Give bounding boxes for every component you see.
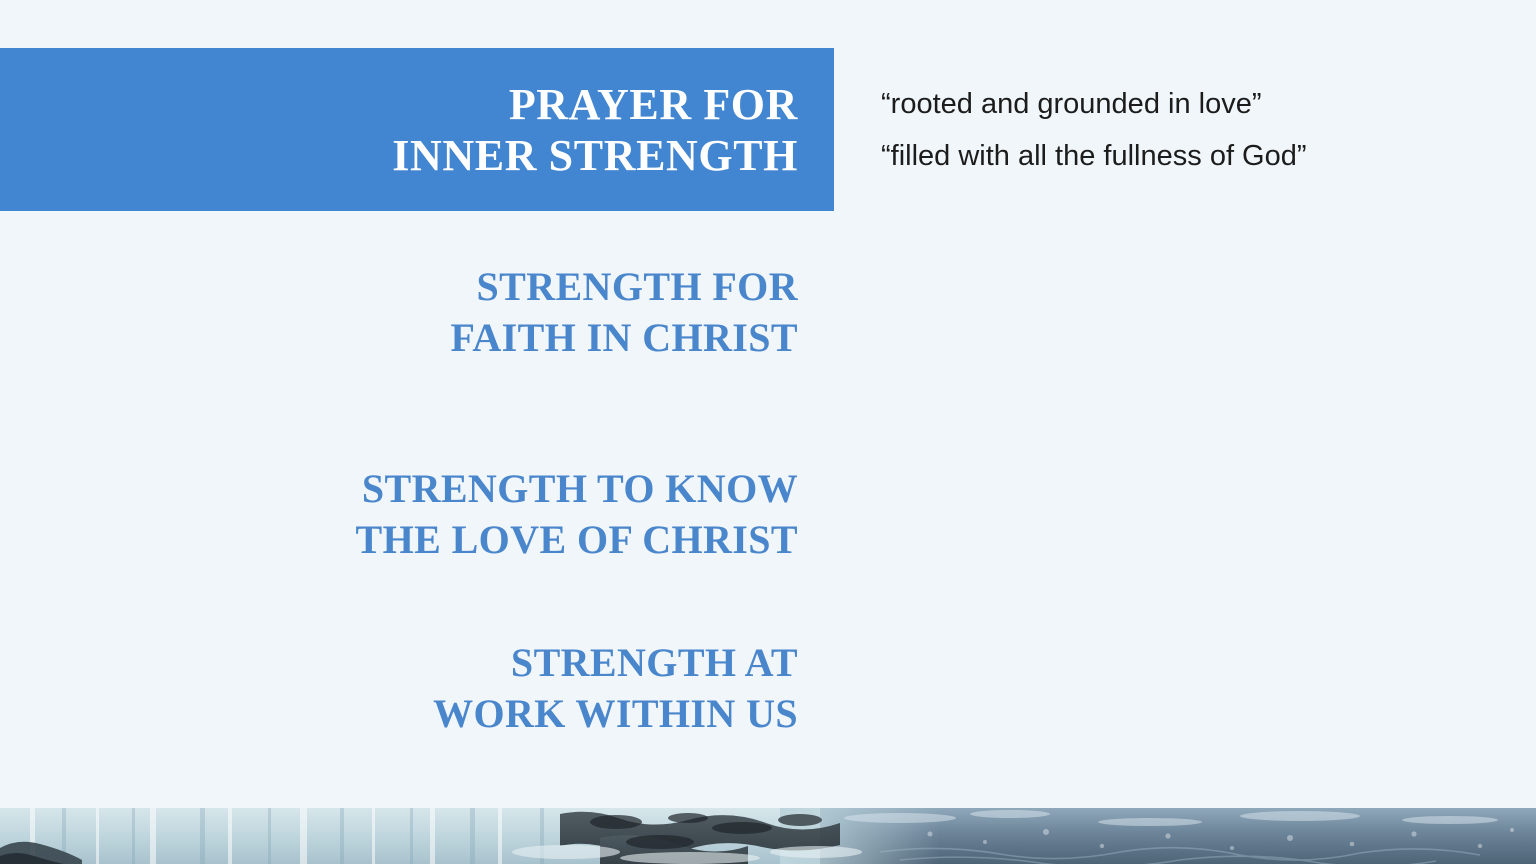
heading-1-line-1: STRENGTH FOR <box>0 261 798 312</box>
quote-line-2: “filled with all the fullness of God” <box>881 130 1481 182</box>
quote-line-1: “rooted and grounded in love” <box>881 78 1481 130</box>
waterfall-photo-graphic <box>0 808 1536 864</box>
presentation-slide: PRAYER FOR INNER STRENGTH “rooted and gr… <box>0 0 1536 864</box>
quote-block: “rooted and grounded in love” “filled wi… <box>881 78 1481 182</box>
waterfall-photo-strip <box>0 808 1536 864</box>
title-line-1: PRAYER FOR <box>509 79 798 130</box>
heading-3-line-1: STRENGTH AT <box>0 637 798 688</box>
heading-block-love-of-christ: STRENGTH TO KNOW THE LOVE OF CHRIST <box>0 463 798 565</box>
heading-block-faith-in-christ: STRENGTH FOR FAITH IN CHRIST <box>0 261 798 363</box>
heading-1-line-2: FAITH IN CHRIST <box>0 312 798 363</box>
title-banner: PRAYER FOR INNER STRENGTH <box>0 48 834 211</box>
title-line-2: INNER STRENGTH <box>392 130 798 181</box>
heading-2-line-1: STRENGTH TO KNOW <box>0 463 798 514</box>
heading-block-work-within-us: STRENGTH AT WORK WITHIN US <box>0 637 798 739</box>
heading-2-line-2: THE LOVE OF CHRIST <box>0 514 798 565</box>
heading-3-line-2: WORK WITHIN US <box>0 688 798 739</box>
